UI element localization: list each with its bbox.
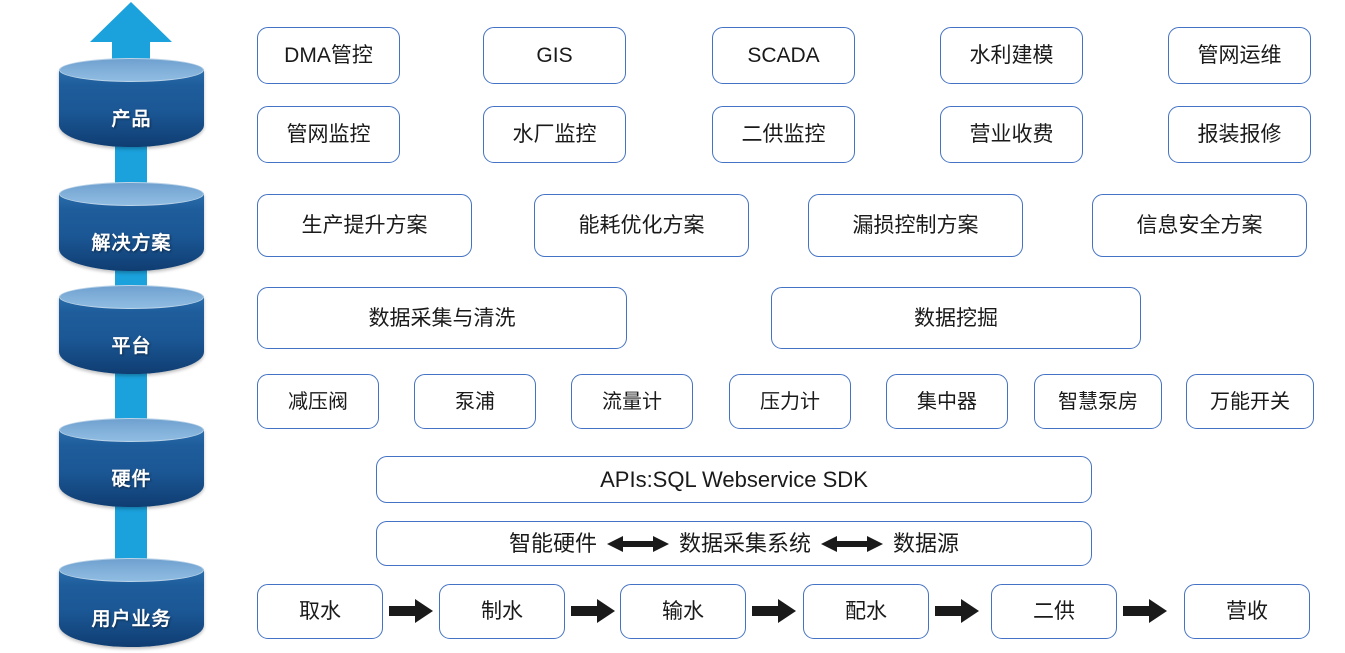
hardware-box-universal-switch[interactable]: 万能开关 bbox=[1186, 374, 1314, 429]
right-arrow-icon bbox=[571, 598, 615, 624]
api-bar[interactable]: APIs:SQL Webservice SDK bbox=[376, 456, 1092, 503]
product-box-hydro-modeling[interactable]: 水利建模 bbox=[940, 27, 1083, 84]
product-box-gis[interactable]: GIS bbox=[483, 27, 626, 84]
dataflow-node-smart-hardware: 智能硬件 bbox=[509, 533, 597, 555]
solution-box-production[interactable]: 生产提升方案 bbox=[257, 194, 472, 257]
dataflow-bar[interactable]: 智能硬件 数据采集系统 数据源 bbox=[376, 521, 1092, 566]
dataflow-node-collection-system: 数据采集系统 bbox=[679, 533, 811, 555]
solution-box-energy[interactable]: 能耗优化方案 bbox=[534, 194, 749, 257]
hardware-box-smart-pump-room[interactable]: 智慧泵房 bbox=[1034, 374, 1162, 429]
business-flow-box-revenue[interactable]: 营收 bbox=[1184, 584, 1310, 639]
product-box-scada[interactable]: SCADA bbox=[712, 27, 855, 84]
right-arrow-icon bbox=[389, 598, 433, 624]
product-box-pipe-monitor[interactable]: 管网监控 bbox=[257, 106, 400, 163]
product-box-plant-monitor[interactable]: 水厂监控 bbox=[483, 106, 626, 163]
solution-box-leakage[interactable]: 漏损控制方案 bbox=[808, 194, 1023, 257]
product-box-billing[interactable]: 营业收费 bbox=[940, 106, 1083, 163]
right-arrow-icon bbox=[752, 598, 796, 624]
business-flow-box-transmission[interactable]: 输水 bbox=[620, 584, 746, 639]
right-arrow-icon bbox=[1123, 598, 1167, 624]
layer-cylinder-hardware[interactable]: 硬件 bbox=[59, 418, 204, 496]
hardware-box-flow-meter[interactable]: 流量计 bbox=[571, 374, 693, 429]
layer-label-platform: 平台 bbox=[59, 331, 204, 358]
platform-box-data-mining[interactable]: 数据挖掘 bbox=[771, 287, 1141, 349]
layer-label-solution: 解决方案 bbox=[59, 228, 204, 255]
platform-box-data-collection[interactable]: 数据采集与清洗 bbox=[257, 287, 627, 349]
cylinder-top-ellipse bbox=[59, 182, 204, 206]
solution-box-security[interactable]: 信息安全方案 bbox=[1092, 194, 1307, 257]
business-flow-box-distribution[interactable]: 配水 bbox=[803, 584, 929, 639]
layer-label-hardware: 硬件 bbox=[59, 464, 204, 491]
hardware-box-pump[interactable]: 泵浦 bbox=[414, 374, 536, 429]
right-arrow-icon bbox=[935, 598, 979, 624]
cylinder-top-ellipse bbox=[59, 558, 204, 582]
product-box-pipe-om[interactable]: 管网运维 bbox=[1168, 27, 1311, 84]
layer-cylinder-product[interactable]: 产品 bbox=[59, 58, 204, 136]
product-box-dma[interactable]: DMA管控 bbox=[257, 27, 400, 84]
product-box-secondary-supply-monitor[interactable]: 二供监控 bbox=[712, 106, 855, 163]
double-arrow-icon bbox=[607, 535, 669, 553]
business-flow-box-intake[interactable]: 取水 bbox=[257, 584, 383, 639]
dataflow-node-data-source: 数据源 bbox=[893, 533, 959, 555]
layer-cylinder-business[interactable]: 用户业务 bbox=[59, 558, 204, 636]
cylinder-top-ellipse bbox=[59, 58, 204, 82]
dataflow-content: 智能硬件 数据采集系统 数据源 bbox=[509, 533, 959, 555]
hardware-box-pressure-reducing-valve[interactable]: 减压阀 bbox=[257, 374, 379, 429]
layer-cylinder-platform[interactable]: 平台 bbox=[59, 285, 204, 363]
cylinder-top-ellipse bbox=[59, 418, 204, 442]
product-box-install-repair[interactable]: 报装报修 bbox=[1168, 106, 1311, 163]
layer-stack: 产品 解决方案 平台 硬件 用户业务 bbox=[0, 0, 250, 653]
layer-cylinder-solution[interactable]: 解决方案 bbox=[59, 182, 204, 260]
business-flow-box-secondary-supply[interactable]: 二供 bbox=[991, 584, 1117, 639]
hardware-box-pressure-gauge[interactable]: 压力计 bbox=[729, 374, 851, 429]
architecture-diagram: 产品 解决方案 平台 硬件 用户业务 DMA管控 GIS SCADA 水 bbox=[0, 0, 1345, 653]
double-arrow-icon bbox=[821, 535, 883, 553]
layer-label-product: 产品 bbox=[59, 104, 204, 131]
cylinder-top-ellipse bbox=[59, 285, 204, 309]
hardware-box-concentrator[interactable]: 集中器 bbox=[886, 374, 1008, 429]
layer-label-business: 用户业务 bbox=[59, 604, 204, 631]
business-flow-box-treatment[interactable]: 制水 bbox=[439, 584, 565, 639]
